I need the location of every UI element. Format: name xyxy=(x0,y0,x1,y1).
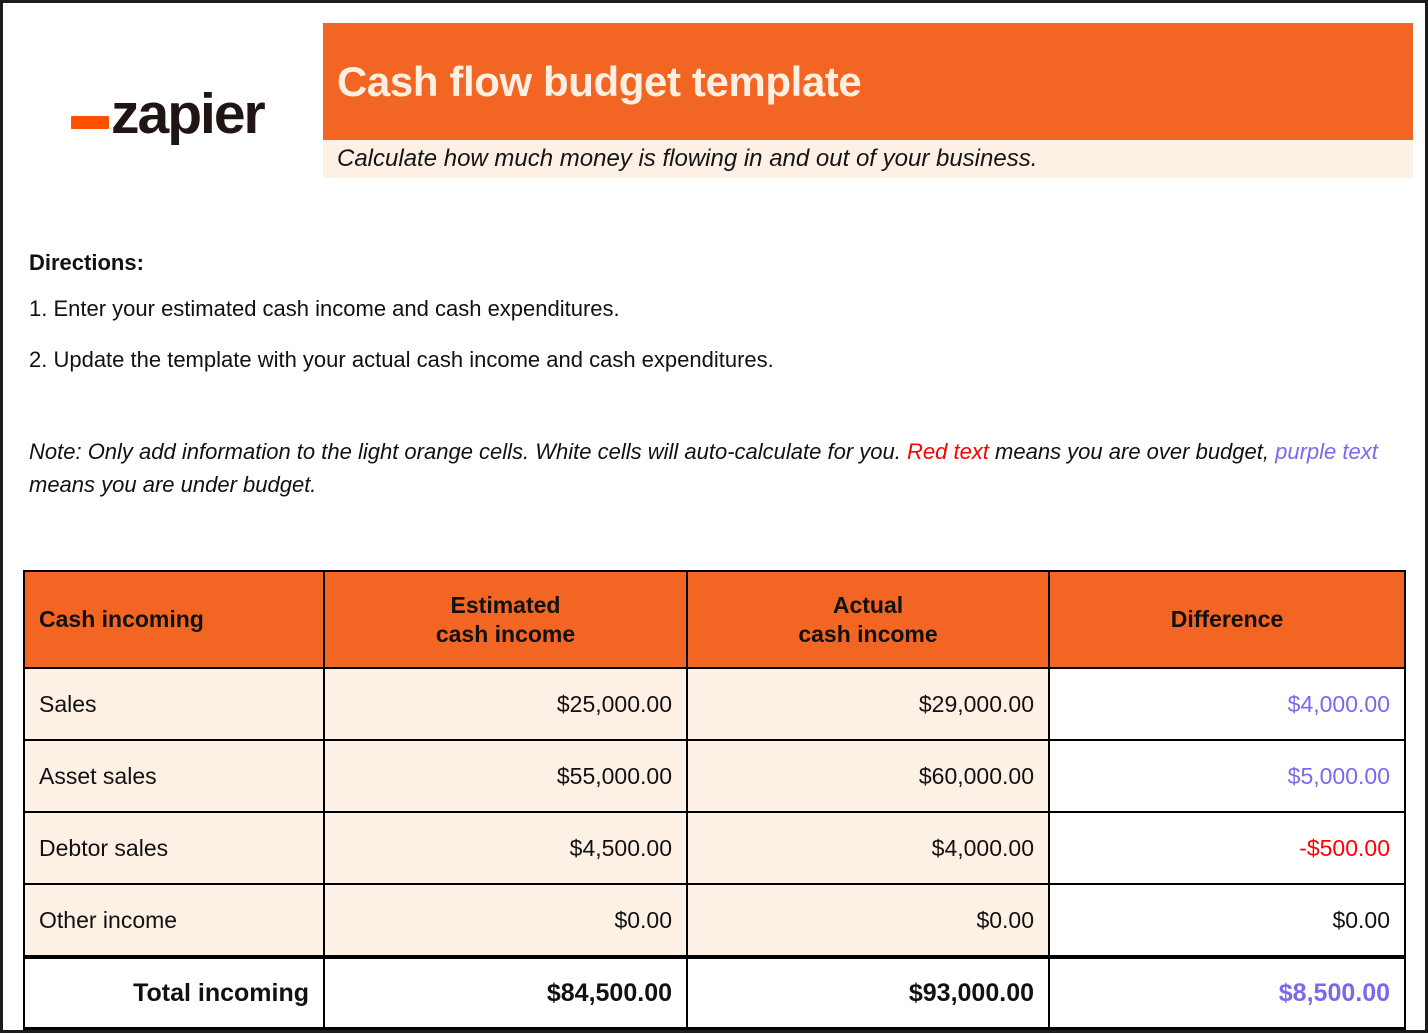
table-row: Debtor sales $4,500.00 $4,000.00 -$500.0… xyxy=(24,812,1405,884)
note-red-text: Red text xyxy=(907,439,989,464)
note-part-1: Note: Only add information to the light … xyxy=(29,439,907,464)
cell-estimated-sales[interactable]: $25,000.00 xyxy=(324,668,687,740)
table-row: Sales $25,000.00 $29,000.00 $4,000.00 xyxy=(24,668,1405,740)
column-header-actual-line1: Actual xyxy=(833,592,903,618)
cell-difference-asset-sales: $5,000.00 xyxy=(1049,740,1405,812)
table-row: Asset sales $55,000.00 $60,000.00 $5,000… xyxy=(24,740,1405,812)
table-header: Cash incoming Estimated cash income Actu… xyxy=(24,571,1405,668)
cell-estimated-asset-sales[interactable]: $55,000.00 xyxy=(324,740,687,812)
direction-step-2: 2. Update the template with your actual … xyxy=(29,347,1389,372)
column-header-actual-line2: cash income xyxy=(798,621,937,647)
document-page: zapier Cash flow budget template Calcula… xyxy=(0,0,1428,1033)
total-label: Total incoming xyxy=(24,957,324,1029)
row-label-other-income: Other income xyxy=(24,884,324,957)
cash-incoming-table: Cash incoming Estimated cash income Actu… xyxy=(23,570,1406,1031)
row-label-asset-sales: Asset sales xyxy=(24,740,324,812)
subtitle-banner: Calculate how much money is flowing in a… xyxy=(323,140,1413,178)
column-header-cash-incoming: Cash incoming xyxy=(24,571,324,668)
cell-actual-sales[interactable]: $29,000.00 xyxy=(687,668,1049,740)
column-header-estimated-line2: cash income xyxy=(436,621,575,647)
column-header-actual-cash-income: Actual cash income xyxy=(687,571,1049,668)
masthead: zapier Cash flow budget template Calcula… xyxy=(3,3,1425,178)
total-difference: $8,500.00 xyxy=(1049,957,1405,1029)
zapier-logo-wordmark: zapier xyxy=(111,90,264,139)
note-part-2: means you are over budget, xyxy=(989,439,1275,464)
cell-actual-other-income[interactable]: $0.00 xyxy=(687,884,1049,957)
table-body: Sales $25,000.00 $29,000.00 $4,000.00 As… xyxy=(24,668,1405,1029)
table-total-row: Total incoming $84,500.00 $93,000.00 $8,… xyxy=(24,957,1405,1029)
cell-difference-other-income: $0.00 xyxy=(1049,884,1405,957)
title-banner: Cash flow budget template xyxy=(323,23,1413,140)
note-part-3: means you are under budget. xyxy=(29,472,316,497)
table-header-row: Cash incoming Estimated cash income Actu… xyxy=(24,571,1405,668)
column-header-difference: Difference xyxy=(1049,571,1405,668)
cell-estimated-other-income[interactable]: $0.00 xyxy=(324,884,687,957)
zapier-logo: zapier xyxy=(71,75,264,139)
table-row: Other income $0.00 $0.00 $0.00 xyxy=(24,884,1405,957)
column-header-estimated-cash-income: Estimated cash income xyxy=(324,571,687,668)
note-purple-text: purple text xyxy=(1275,439,1378,464)
direction-step-1: 1. Enter your estimated cash income and … xyxy=(29,296,1389,321)
directions-section: Directions: 1. Enter your estimated cash… xyxy=(29,251,1389,399)
row-label-debtor-sales: Debtor sales xyxy=(24,812,324,884)
cell-actual-asset-sales[interactable]: $60,000.00 xyxy=(687,740,1049,812)
zapier-logo-dash-icon xyxy=(71,116,109,129)
cell-estimated-debtor-sales[interactable]: $4,500.00 xyxy=(324,812,687,884)
cell-actual-debtor-sales[interactable]: $4,000.00 xyxy=(687,812,1049,884)
cell-difference-debtor-sales: -$500.00 xyxy=(1049,812,1405,884)
page-subtitle: Calculate how much money is flowing in a… xyxy=(337,145,1037,173)
cell-difference-sales: $4,000.00 xyxy=(1049,668,1405,740)
column-header-estimated-line1: Estimated xyxy=(451,592,561,618)
directions-heading: Directions: xyxy=(29,251,1389,275)
total-actual: $93,000.00 xyxy=(687,957,1049,1029)
directions-note: Note: Only add information to the light … xyxy=(29,435,1389,501)
row-label-sales: Sales xyxy=(24,668,324,740)
page-title: Cash flow budget template xyxy=(337,58,861,106)
total-estimated: $84,500.00 xyxy=(324,957,687,1029)
